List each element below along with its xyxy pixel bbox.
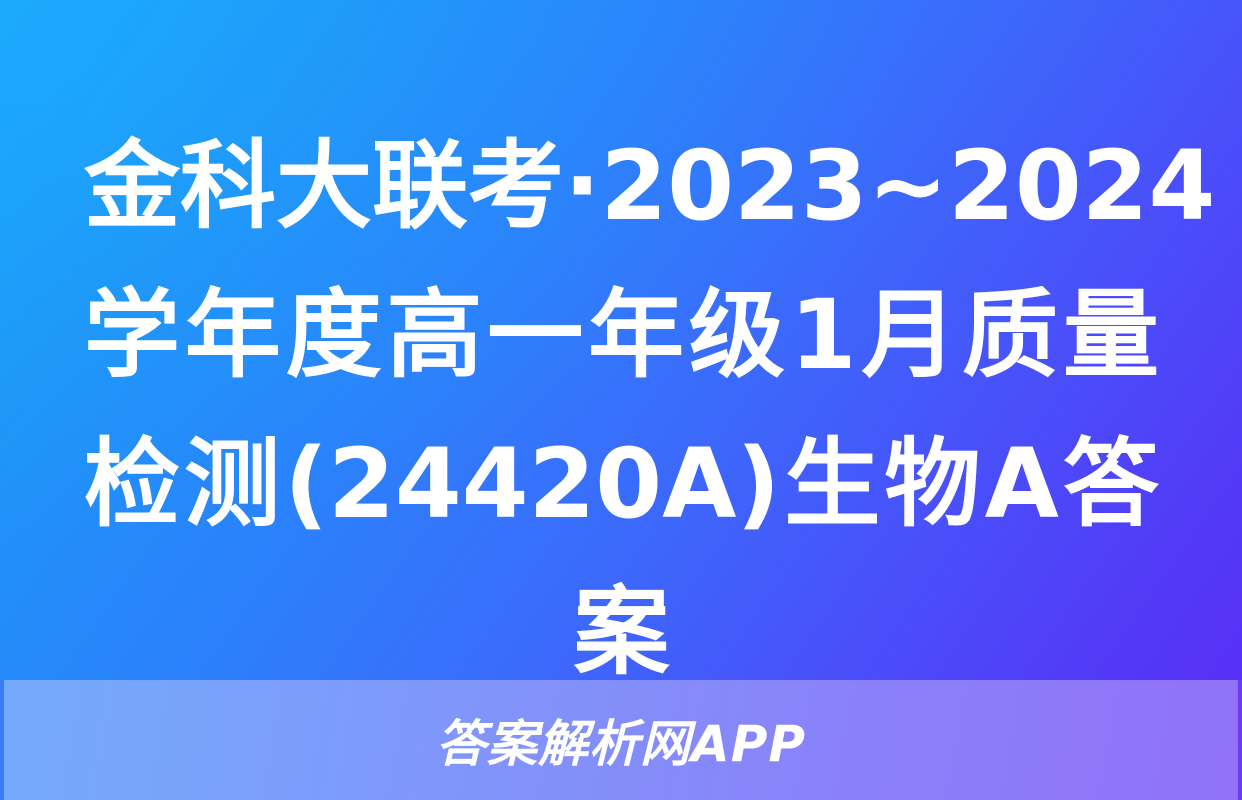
title-line-1-text: 金科大联考·2023~2024 xyxy=(84,112,1159,261)
title-line-4-text: 案 xyxy=(574,576,670,688)
title-line-2: 学年度高一年级1月质量 xyxy=(84,261,1159,410)
footer-left-edge-accent xyxy=(0,680,4,800)
poster-title: 金科大联考·2023~2024 学年度高一年级1月质量 检测(24420A)生物… xyxy=(84,112,1159,707)
answer-poster-card: 金科大联考·2023~2024 学年度高一年级1月质量 检测(24420A)生物… xyxy=(0,0,1242,800)
title-line-3-text: 检测(24420A)生物A答 xyxy=(84,410,1159,559)
app-name-label: 答案解析网APP xyxy=(436,704,806,776)
footer-right-edge-accent xyxy=(1238,680,1242,800)
title-line-1: 金科大联考·2023~2024 xyxy=(84,112,1159,261)
title-line-3: 检测(24420A)生物A答 xyxy=(84,410,1159,559)
app-footer-banner[interactable]: 答案解析网APP xyxy=(0,680,1242,800)
title-line-2-text: 学年度高一年级1月质量 xyxy=(84,261,1159,410)
